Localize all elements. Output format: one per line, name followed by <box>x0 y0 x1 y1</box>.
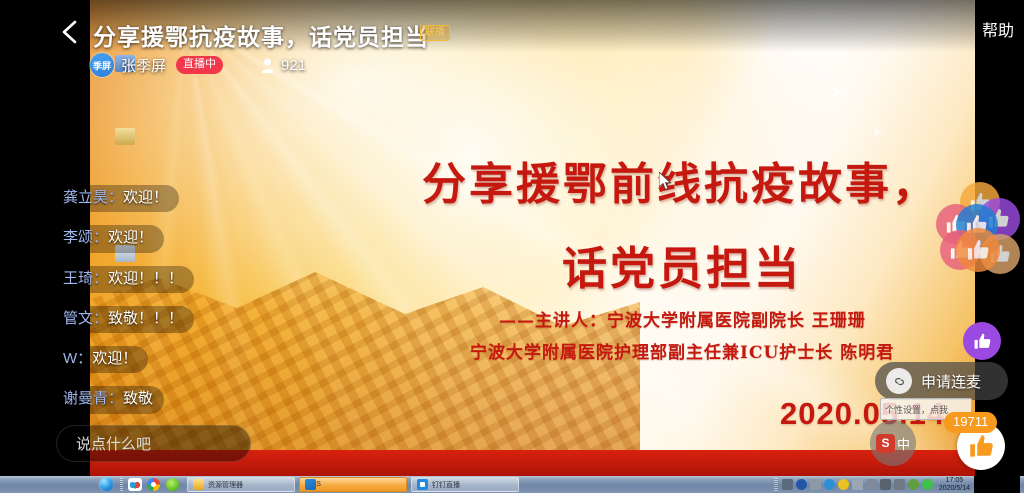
back-button[interactable] <box>56 17 86 47</box>
chat-input[interactable]: 说点什么吧 <box>56 425 251 462</box>
volume-icon[interactable] <box>838 479 849 490</box>
flag-icon[interactable] <box>894 479 905 490</box>
slide-subtitle-line1: ——主讲人：宁波大学附属医院副院长 王珊珊 <box>499 306 866 331</box>
chevron-left-icon <box>56 17 86 47</box>
chat-separator: ： <box>77 350 92 367</box>
viewer-count-group: 921 <box>261 57 306 74</box>
thumbs-up-icon <box>966 238 991 263</box>
chat-text: 欢迎！！！ <box>108 270 183 287</box>
clock-date: 2020/5/14 <box>939 485 970 492</box>
thumbs-up-icon <box>968 433 995 460</box>
edge-icon <box>166 478 179 491</box>
taskbar-item-label: WPS <box>305 481 321 488</box>
status-badge: 直播中 <box>176 56 223 74</box>
quicklaunch-divider <box>120 478 123 491</box>
request-mic-button[interactable]: 申请连麦 <box>875 362 1008 400</box>
mouse-cursor <box>659 172 672 191</box>
list-item: W：欢迎！ <box>52 346 332 386</box>
live-stream-window: ➤ ➤ 分享援鄂前线抗疫故事， 话党员担当 ——主讲人：宁波大学附属医院副院长 … <box>0 0 1024 493</box>
speaker-icon[interactable] <box>880 479 891 490</box>
link-glyph <box>892 374 907 389</box>
thumbs-up-bubble <box>956 228 1000 272</box>
chat-message-list: 龚立昊：欢迎！ 李颂：欢迎！ 王琦：欢迎！！！ 管文：致敬！！！ W：欢迎！ 谢… <box>52 185 332 427</box>
chat-separator: ： <box>93 310 108 327</box>
list-item: 谢曼青：致敬 <box>52 386 332 426</box>
quicklaunch-chrome[interactable] <box>145 477 162 492</box>
desktop-shortcut <box>112 128 138 147</box>
system-tray: 17:05 2020/5/14 <box>774 476 1024 493</box>
cloud-icon[interactable] <box>908 479 919 490</box>
list-item: 龚立昊：欢迎！ <box>52 185 332 225</box>
lianbo-badge: 联播 <box>420 25 450 41</box>
dove-icon: ➤ <box>828 81 846 104</box>
chat-text: 欢迎！ <box>108 229 153 246</box>
windows-orb-icon <box>99 477 114 492</box>
chevron-up-icon[interactable] <box>782 479 793 490</box>
floating-like-bubbles <box>930 182 1024 287</box>
chat-user: 龚立昊 <box>63 189 108 206</box>
thumbs-up-icon <box>973 332 992 351</box>
sogou-icon: S <box>876 434 895 453</box>
person-icon <box>261 58 274 73</box>
shield-icon[interactable] <box>852 479 863 490</box>
slide-subtitle-line2: 宁波大学附属医院护理部副主任兼ICU护士长 陈明君 <box>470 338 894 363</box>
chat-text: 致敬 <box>123 390 153 407</box>
green-icon[interactable] <box>922 479 933 490</box>
sync-icon[interactable] <box>866 479 877 490</box>
list-item: 管文：致敬！！！ <box>52 306 332 346</box>
taskbar-clock[interactable]: 17:05 2020/5/14 <box>939 477 970 492</box>
slide-title-line1: 分享援鄂前线抗疫故事， <box>422 148 939 212</box>
help-button[interactable]: 帮助 <box>982 17 1014 41</box>
chat-separator: ： <box>108 189 123 206</box>
avatar[interactable]: 季屏 <box>90 53 114 77</box>
page-title: 分享援鄂抗疫故事，话党员担当 <box>93 18 429 52</box>
taskbar-item-label: 钉钉直播 <box>432 480 460 490</box>
sogou-ime-ball[interactable]: S 中 <box>870 420 916 466</box>
viewer-count: 921 <box>281 57 306 74</box>
chat-separator: ： <box>108 390 123 407</box>
chat-text: 致敬！！！ <box>108 310 183 327</box>
folder-icon <box>193 479 204 490</box>
browser-icon[interactable] <box>796 479 807 490</box>
chat-text: 欢迎！ <box>123 189 168 206</box>
host-name: 张季屏 <box>121 55 166 76</box>
list-item: 王琦：欢迎！！！ <box>52 266 332 306</box>
quicklaunch-edge[interactable] <box>164 477 181 492</box>
chat-user: W <box>63 350 77 367</box>
request-mic-label: 申请连麦 <box>921 371 981 392</box>
dove-icon: ➤ <box>871 123 884 140</box>
tray-grip[interactable] <box>774 478 778 491</box>
taskbar-item[interactable]: 钉钉直播 <box>411 477 519 492</box>
start-button[interactable] <box>95 477 117 492</box>
chat-separator: ： <box>93 270 108 287</box>
taskbar-item[interactable]: 资源管理器 <box>187 477 295 492</box>
link-icon <box>886 368 912 394</box>
taskbar-left-group: 资源管理器 WPS 钉钉直播 <box>0 476 519 493</box>
dingtalk-icon <box>417 479 428 490</box>
host-info-row: 季屏 张季屏 直播中 921 <box>90 53 306 77</box>
like-count-badge: 19711 <box>944 412 997 433</box>
quicklaunch-maxthon[interactable] <box>126 477 143 492</box>
floating-like-purple[interactable] <box>963 322 1001 360</box>
network-icon[interactable] <box>824 479 835 490</box>
clock-time: 17:05 <box>939 477 970 484</box>
chat-text: 欢迎！ <box>92 350 137 367</box>
chat-user: 谢曼青 <box>63 390 108 407</box>
taskbar-item-label: 资源管理器 <box>208 480 243 490</box>
slide-title-line2: 话党员担当 <box>562 232 802 297</box>
maxthon-icon <box>128 478 142 491</box>
chat-user: 李颂 <box>63 229 93 246</box>
ime-mode-label: 中 <box>897 434 910 453</box>
list-item: 李颂：欢迎！ <box>52 225 332 265</box>
chat-separator: ： <box>93 229 108 246</box>
battery-icon[interactable] <box>810 479 821 490</box>
windows-taskbar[interactable]: 资源管理器 WPS 钉钉直播 17:05 <box>0 476 1024 493</box>
tray-black-edge <box>974 476 1020 493</box>
chat-user: 王琦 <box>63 270 93 287</box>
chrome-icon <box>147 478 160 491</box>
chat-input-placeholder: 说点什么吧 <box>76 433 151 454</box>
chat-user: 管文 <box>63 310 93 327</box>
taskbar-item[interactable]: WPS <box>299 477 407 492</box>
